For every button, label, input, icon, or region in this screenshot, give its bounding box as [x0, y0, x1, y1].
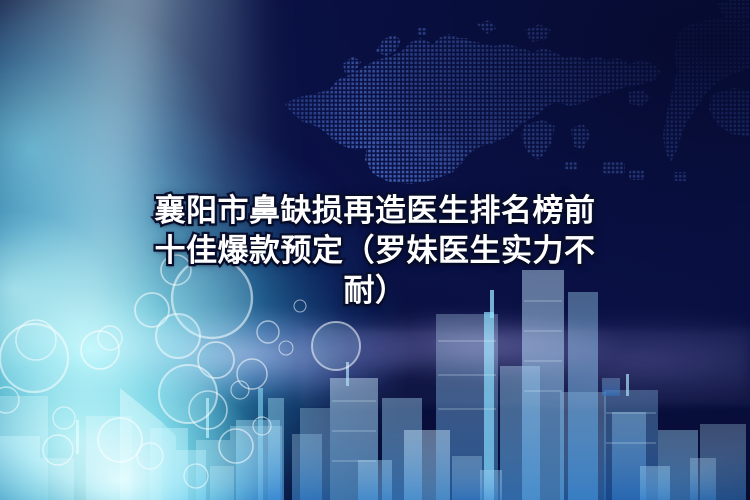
dotted-world-map — [225, 0, 750, 204]
title-line-2: 十佳爆款预定（罗妹医生实力不 — [88, 231, 662, 271]
title-line-3: 耐） — [88, 271, 662, 311]
banner-image: 襄阳市鼻缺损再造医生排名榜前 十佳爆款预定（罗妹医生实力不 耐） — [0, 0, 750, 500]
page-title: 襄阳市鼻缺损再造医生排名榜前 十佳爆款预定（罗妹医生实力不 耐） — [0, 191, 750, 311]
title-line-1: 襄阳市鼻缺损再造医生排名榜前 — [88, 191, 662, 231]
